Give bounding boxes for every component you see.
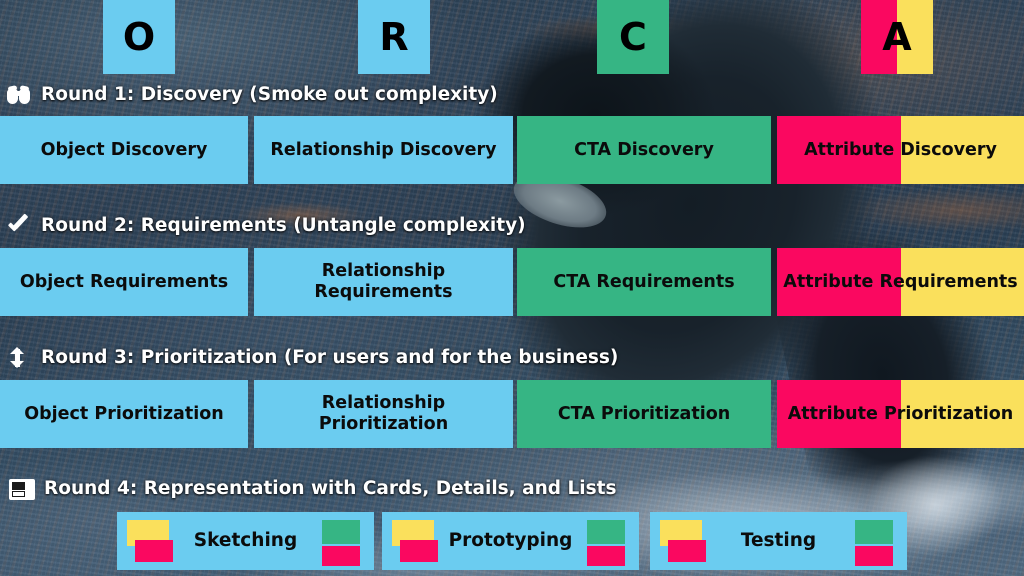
acronym-letter-glyph: O bbox=[123, 18, 155, 56]
round-3-title: Round 3: Prioritization (For users and f… bbox=[41, 349, 618, 368]
swatch-attribute-pink bbox=[587, 546, 625, 566]
bar-label: CTA Requirements bbox=[547, 272, 740, 293]
check-icon bbox=[6, 215, 32, 237]
card-icon-top bbox=[12, 482, 25, 490]
card-swatch-right bbox=[583, 520, 629, 562]
round-4-card-sketching[interactable]: Sketching bbox=[117, 512, 374, 570]
bar-label: Object Prioritization bbox=[18, 404, 229, 425]
card-swatch-right bbox=[851, 520, 897, 562]
bar-label: CTA Discovery bbox=[568, 140, 720, 161]
bar-label: Object Requirements bbox=[14, 272, 234, 293]
round-4-header: Round 4: Representation with Cards, Deta… bbox=[6, 476, 616, 502]
round-2-header: Round 2: Requirements (Untangle complexi… bbox=[6, 213, 526, 239]
binoculars-icon bbox=[6, 84, 32, 106]
acronym-letter-a: A bbox=[861, 0, 933, 74]
round-4-title: Round 4: Representation with Cards, Deta… bbox=[44, 480, 616, 499]
round-1-bar-object[interactable]: Object Discovery bbox=[0, 116, 248, 184]
bar-label: Relationship Requirements bbox=[254, 261, 513, 302]
round-4-card-testing[interactable]: Testing bbox=[650, 512, 907, 570]
acronym-letter-r: R bbox=[358, 0, 430, 74]
round-3-bar-object[interactable]: Object Prioritization bbox=[0, 380, 248, 448]
round-1-title: Round 1: Discovery (Smoke out complexity… bbox=[41, 86, 498, 105]
bar-label: Relationship Prioritization bbox=[254, 393, 513, 434]
round-2-bar-relationship[interactable]: Relationship Requirements bbox=[254, 248, 513, 316]
round-2-bar-object[interactable]: Object Requirements bbox=[0, 248, 248, 316]
round-1-header: Round 1: Discovery (Smoke out complexity… bbox=[6, 82, 498, 108]
round-3-header: Round 3: Prioritization (For users and f… bbox=[6, 345, 618, 371]
swatch-attribute-pink bbox=[668, 540, 706, 562]
slide-stage: ORCA Round 1: Discovery (Smoke out compl… bbox=[0, 0, 1024, 576]
orca-acronym-row: ORCA bbox=[0, 0, 1024, 74]
swatch-cta-green bbox=[855, 520, 893, 544]
round-2-bar-attribute[interactable]: Attribute Requirements bbox=[777, 248, 1024, 316]
swatch-attribute-pink bbox=[135, 540, 173, 562]
bar-label: Object Discovery bbox=[35, 140, 214, 161]
card-label: Sketching bbox=[173, 532, 318, 551]
arrow-down-head bbox=[10, 361, 24, 368]
binoculars-bridge bbox=[16, 91, 22, 96]
swatch-attribute-pink bbox=[855, 546, 893, 566]
round-1-bar-relationship[interactable]: Relationship Discovery bbox=[254, 116, 513, 184]
card-swatch-left bbox=[660, 520, 706, 562]
swatch-cta-green bbox=[587, 520, 625, 544]
swatch-cta-green bbox=[322, 520, 360, 544]
acronym-letter-c: C bbox=[597, 0, 669, 74]
card-swatch-left bbox=[127, 520, 173, 562]
acronym-letter-o: O bbox=[103, 0, 175, 74]
bar-label: Relationship Discovery bbox=[264, 140, 502, 161]
swatch-attribute-pink bbox=[322, 546, 360, 566]
round-3-bar-attribute[interactable]: Attribute Prioritization bbox=[777, 380, 1024, 448]
card-swatch-right bbox=[318, 520, 364, 562]
acronym-letter-glyph: R bbox=[379, 18, 408, 56]
bar-label: Attribute Requirements bbox=[777, 272, 1023, 293]
slide-content: ORCA Round 1: Discovery (Smoke out compl… bbox=[0, 0, 1024, 576]
up-down-arrow-icon bbox=[6, 347, 32, 369]
round-1-bar-attribute[interactable]: Attribute Discovery bbox=[777, 116, 1024, 184]
arrow-up-head bbox=[10, 347, 24, 354]
bar-label: Attribute Discovery bbox=[798, 140, 1003, 161]
swatch-attribute-pink bbox=[400, 540, 438, 562]
card-swatch-left bbox=[392, 520, 438, 562]
bar-label: Attribute Prioritization bbox=[782, 404, 1020, 425]
card-icon-bottom bbox=[12, 491, 25, 497]
acronym-letter-glyph: A bbox=[882, 18, 911, 56]
round-2-bar-cta[interactable]: CTA Requirements bbox=[517, 248, 771, 316]
card-list-icon bbox=[9, 479, 35, 500]
card-label: Testing bbox=[706, 532, 851, 551]
card-label: Prototyping bbox=[438, 532, 583, 551]
bar-label: CTA Prioritization bbox=[552, 404, 736, 425]
round-3-bar-relationship[interactable]: Relationship Prioritization bbox=[254, 380, 513, 448]
round-3-bar-cta[interactable]: CTA Prioritization bbox=[517, 380, 771, 448]
round-2-title: Round 2: Requirements (Untangle complexi… bbox=[41, 217, 526, 236]
round-1-bar-cta[interactable]: CTA Discovery bbox=[517, 116, 771, 184]
round-4-card-prototyping[interactable]: Prototyping bbox=[382, 512, 639, 570]
acronym-letter-glyph: C bbox=[619, 18, 647, 56]
binoculars-eyecup-right bbox=[20, 85, 30, 92]
